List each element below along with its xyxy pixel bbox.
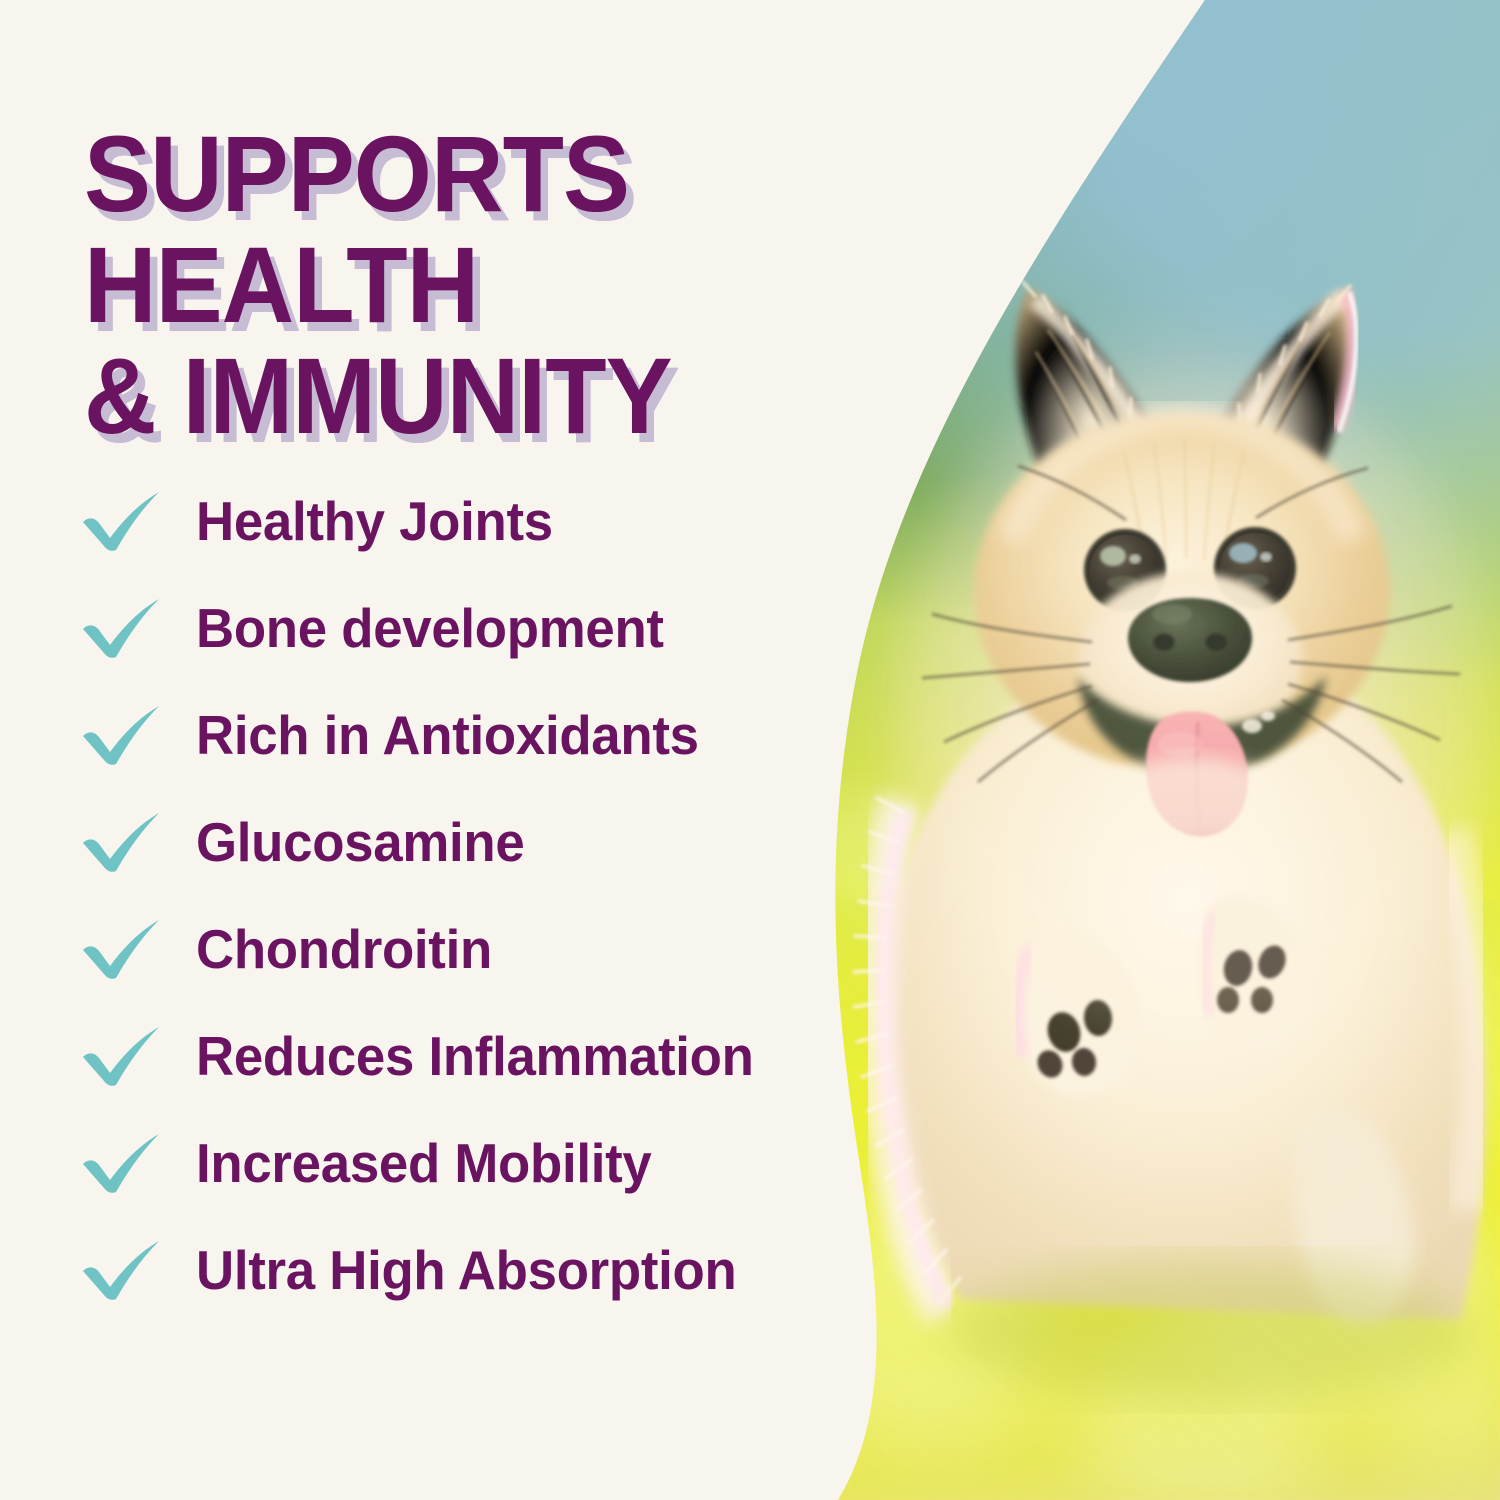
check-icon — [80, 705, 162, 767]
list-item: Chondroitin — [80, 896, 870, 1003]
benefit-label: Increased Mobility — [196, 1136, 651, 1191]
check-icon — [80, 919, 162, 981]
benefit-label: Glucosamine — [196, 815, 524, 870]
list-item: Healthy Joints — [80, 468, 870, 575]
benefit-label: Rich in Antioxidants — [196, 708, 699, 763]
benefit-label: Chondroitin — [196, 922, 492, 977]
list-item: Bone development — [80, 575, 870, 682]
check-icon — [80, 1133, 162, 1195]
check-icon — [80, 491, 162, 553]
benefit-label: Bone development — [196, 601, 664, 656]
list-item: Ultra High Absorption — [80, 1217, 870, 1324]
benefit-label: Healthy Joints — [196, 494, 553, 549]
benefit-label: Ultra High Absorption — [196, 1243, 736, 1298]
check-icon — [80, 1026, 162, 1088]
list-item: Glucosamine — [80, 789, 870, 896]
benefit-label: Reduces Inflammation — [196, 1029, 754, 1084]
check-icon — [80, 812, 162, 874]
page-title: SUPPORTS HEALTH & IMMUNITY — [84, 118, 921, 452]
list-item: Reduces Inflammation — [80, 1003, 870, 1110]
content-panel: SUPPORTS HEALTH & IMMUNITY Healthy Joint… — [0, 0, 860, 1500]
check-icon — [80, 598, 162, 660]
list-item: Increased Mobility — [80, 1110, 870, 1217]
check-icon — [80, 1240, 162, 1302]
list-item: Rich in Antioxidants — [80, 682, 870, 789]
benefits-list: Healthy Joints Bone development Rich in … — [80, 468, 870, 1324]
promo-poster: SUPPORTS HEALTH & IMMUNITY Healthy Joint… — [0, 0, 1500, 1500]
